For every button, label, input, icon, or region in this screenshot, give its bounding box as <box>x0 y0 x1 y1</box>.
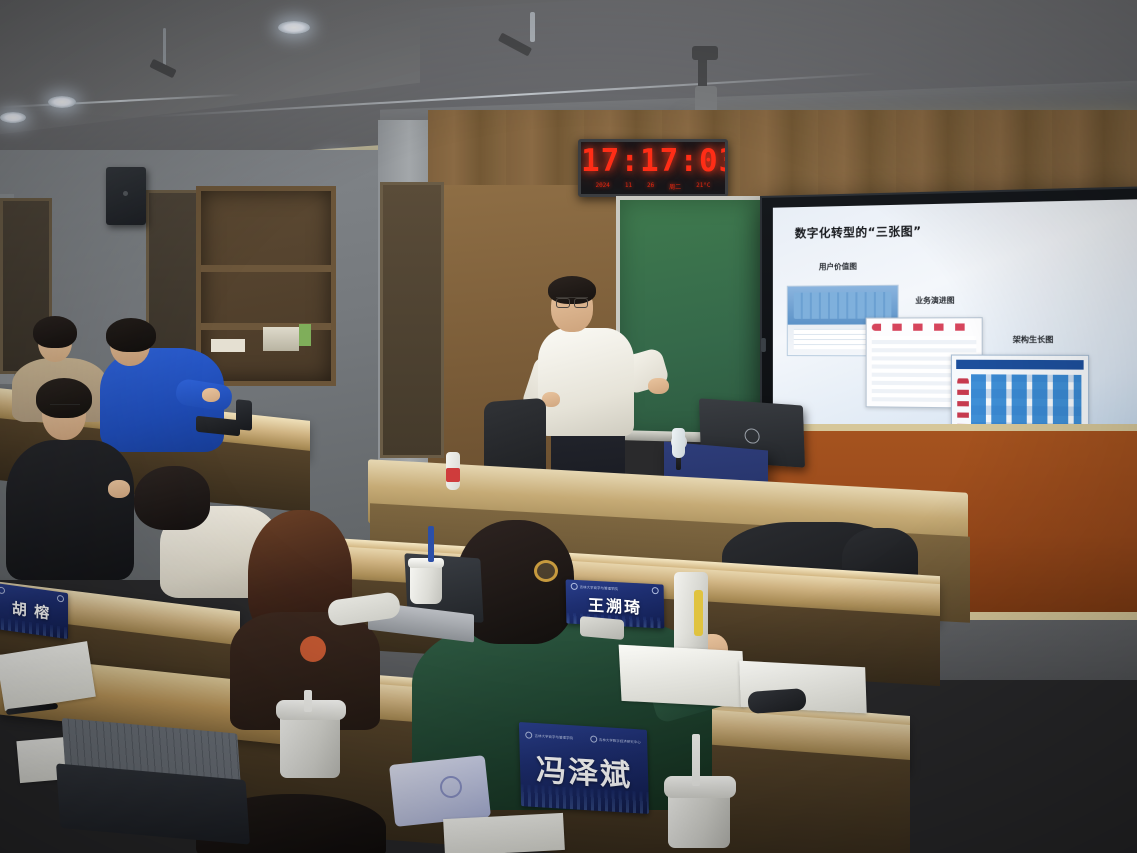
ceiling-projector-arm <box>698 58 707 88</box>
audience-body <box>6 440 134 580</box>
slide-label-architecture-growth: 架构生长图 <box>1013 334 1054 346</box>
slide-title: 数字化转型的“三张图” <box>795 223 922 242</box>
slide-label-user-value: 用户价值图 <box>819 261 857 273</box>
presenter-shirt <box>538 328 634 436</box>
glasses-case <box>580 616 624 640</box>
nameplate-org-left: 吉林大学商学与管理学院 <box>535 733 574 740</box>
audience-hair <box>36 378 92 418</box>
ceiling-spotlight <box>48 96 76 108</box>
audience-clothing-patch <box>300 636 326 662</box>
clock-sub-weekday: 周二 <box>669 182 681 191</box>
lecture-hall-photo: 17:17:03 2024 11 26 周二 21°C 数字化转型的“三张图” … <box>0 0 1137 853</box>
clock-sub-day: 26 <box>647 182 654 191</box>
audience-hair <box>33 316 77 348</box>
hair-clip <box>534 560 558 582</box>
presenter-glasses <box>556 297 588 305</box>
shelf-books <box>211 339 245 352</box>
clock-sub-month: 11 <box>625 182 632 191</box>
drinking-straw <box>692 734 700 786</box>
led-wall-clock: 17:17:03 2024 11 26 周二 21°C <box>578 139 728 197</box>
door-right[interactable] <box>380 182 444 458</box>
paper-sheet <box>443 813 565 853</box>
ceiling-rod <box>530 12 535 42</box>
logo-mark-icon <box>526 731 533 738</box>
audience-hand <box>108 480 130 498</box>
shelf-board <box>201 265 331 272</box>
clock-sub-display: 2024 11 26 周二 21°C <box>581 182 725 191</box>
center-logo-icon <box>57 595 64 603</box>
clock-sub-temp: 21°C <box>696 182 710 191</box>
ceiling-spotlight <box>0 112 26 123</box>
dell-logo-icon <box>744 428 760 444</box>
small-bottle <box>672 428 685 458</box>
logo-mark-icon <box>571 583 578 590</box>
notebook-paper <box>619 645 746 708</box>
university-logo-icon <box>0 587 5 595</box>
shelf-books <box>263 327 299 351</box>
wall-bookshelf <box>196 186 336 386</box>
audience-hair <box>134 466 210 530</box>
nameplate-org-left: 吉林大学商学与管理学院 <box>580 584 618 591</box>
nameplate-org-right: 吉林大学数字经济研究中心 <box>599 737 641 745</box>
university-logo-icon: 吉林大学商学与管理学院 <box>526 731 574 741</box>
drinking-straw <box>428 526 434 562</box>
drink-cup <box>280 712 340 778</box>
logo-mark-icon <box>0 587 5 595</box>
center-logo-icon <box>652 587 659 594</box>
shelf-books <box>299 324 311 346</box>
bottle-label <box>446 468 460 482</box>
center-logo-icon: 吉林大学数字经济研究中心 <box>590 735 641 745</box>
wall-speaker <box>106 167 146 225</box>
nameplate-feng: 吉林大学商学与管理学院 吉林大学数字经济研究中心 冯泽斌 <box>519 722 649 814</box>
cup-lid <box>408 558 444 568</box>
eyeglasses <box>747 688 806 714</box>
drink-cup <box>410 562 442 604</box>
logo-mark-icon <box>57 595 64 603</box>
clock-time-display: 17:17:03 <box>581 143 725 179</box>
cup-lid <box>664 776 736 798</box>
slide-label-business-evolution: 业务演进图 <box>915 295 954 307</box>
audience-glasses <box>50 404 80 411</box>
nameplate-hu: 胡 榕 <box>0 583 68 639</box>
audience-hand <box>202 388 220 402</box>
drinking-straw <box>304 690 312 712</box>
display-side-button[interactable] <box>761 338 766 352</box>
presenter-right-hand <box>648 378 669 394</box>
ceiling-rod <box>163 28 166 68</box>
logo-mark-icon <box>590 735 597 742</box>
clock-sub-year: 2024 <box>595 182 609 191</box>
logo-mark-icon <box>652 587 659 594</box>
thermos-strap <box>694 590 703 636</box>
ceiling-spotlight <box>278 21 310 34</box>
audience-hair <box>106 318 156 352</box>
